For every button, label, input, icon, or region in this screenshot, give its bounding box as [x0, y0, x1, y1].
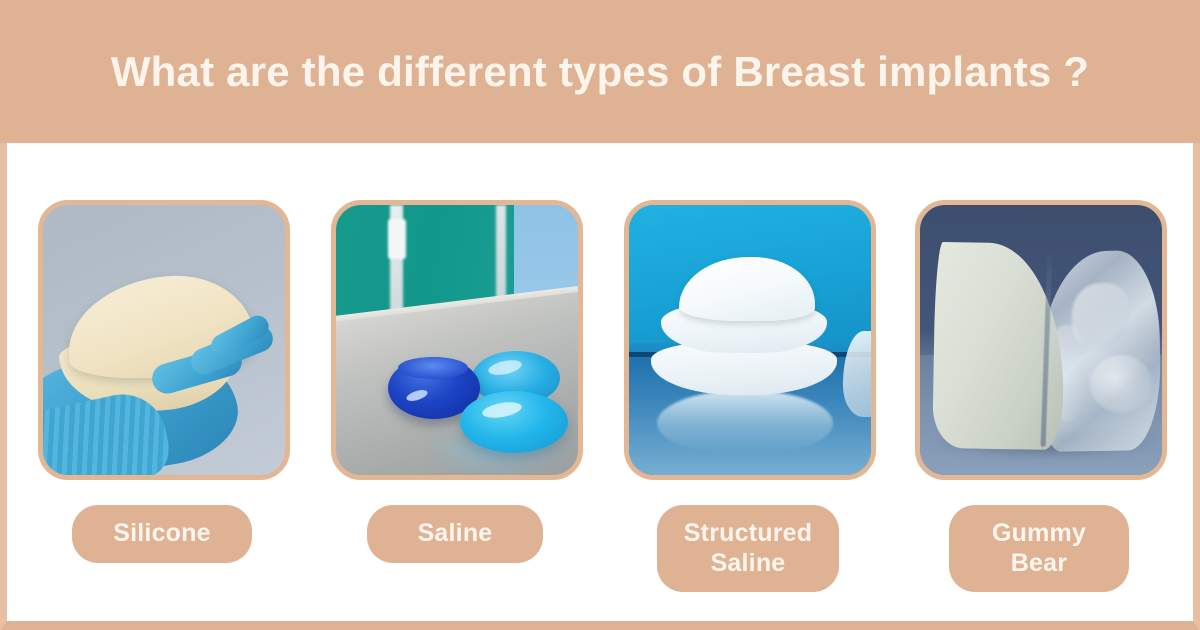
- gummy-bear-photo-card: [915, 200, 1167, 480]
- implant-label-structured-saline: Structured Saline: [657, 505, 839, 592]
- saline-implant-light: [460, 391, 568, 453]
- saline-implant-photo: [336, 205, 578, 475]
- header-band: What are the different types of Breast i…: [0, 0, 1200, 143]
- infographic-poster: What are the different types of Breast i…: [0, 0, 1200, 630]
- saline-photo-card: [331, 200, 583, 480]
- implant-card-silicone[interactable]: Silicone: [25, 143, 299, 593]
- gummy-bear-implant-photo: [920, 205, 1162, 475]
- silicone-photo-card: [38, 200, 290, 480]
- page-title: What are the different types of Breast i…: [55, 45, 1145, 99]
- implant-card-saline[interactable]: Saline: [318, 143, 592, 593]
- implant-label-saline: Saline: [367, 505, 543, 563]
- implant-label-silicone: Silicone: [72, 505, 252, 563]
- gel-fold-highlight: [1090, 355, 1152, 413]
- implant-card-gummy-bear[interactable]: Gummy Bear: [902, 143, 1176, 593]
- implant-label-gummy-bear: Gummy Bear: [949, 505, 1129, 592]
- structured-saline-implant-photo: [629, 205, 871, 475]
- background-strip-highlight: [388, 219, 406, 259]
- structured-saline-photo-card: [624, 200, 876, 480]
- implant-rim: [398, 357, 468, 379]
- implant-card-structured-saline[interactable]: Structured Saline: [611, 143, 885, 593]
- implant-reflection: [657, 391, 833, 453]
- silicone-implant-photo: [43, 205, 285, 475]
- implant-types-row: Silicone: [0, 143, 1200, 623]
